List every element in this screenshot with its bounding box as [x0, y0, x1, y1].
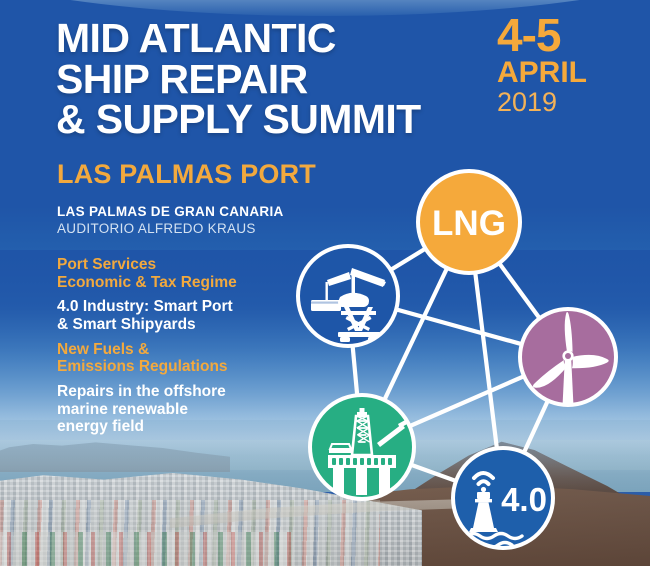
- event-poster: LNG: [0, 0, 650, 566]
- event-date: 4-5 APRIL 2019: [497, 14, 627, 116]
- topic-item: Repairs in the offshoremarine renewablee…: [57, 383, 307, 436]
- headline-line-1: MID ATLANTIC: [56, 18, 476, 59]
- venue-city: LAS PALMAS DE GRAN CANARIA: [57, 203, 284, 220]
- topic-line: Emissions Regulations: [57, 358, 307, 376]
- topic-item: 4.0 Industry: Smart Port& Smart Shipyard…: [57, 298, 307, 333]
- topic-item: Port ServicesEconomic & Tax Regime: [57, 256, 307, 291]
- topic-line: Repairs in the offshore: [57, 383, 307, 401]
- venue-hall: AUDITORIO ALFREDO KRAUS: [57, 220, 284, 237]
- topic-line: energy field: [57, 418, 307, 436]
- venue-block: LAS PALMAS DE GRAN CANARIA AUDITORIO ALF…: [57, 203, 284, 238]
- topic-list: Port ServicesEconomic & Tax Regime4.0 In…: [57, 256, 307, 443]
- topic-line: New Fuels &: [57, 341, 307, 359]
- headline-line-3: & SUPPLY SUMMIT: [56, 99, 476, 140]
- topic-item: New Fuels &Emissions Regulations: [57, 341, 307, 376]
- topic-line: marine renewable: [57, 401, 307, 419]
- topic-line: & Smart Shipyards: [57, 316, 307, 334]
- event-date-year: 2019: [497, 88, 627, 116]
- subtitle-port: LAS PALMAS PORT: [57, 159, 316, 190]
- headline-line-2: SHIP REPAIR: [56, 59, 476, 100]
- poster-copy: MID ATLANTIC SHIP REPAIR & SUPPLY SUMMIT…: [0, 0, 650, 566]
- event-date-month: APRIL: [497, 58, 627, 88]
- topic-line: Port Services: [57, 256, 307, 274]
- event-date-day: 4-5: [497, 14, 627, 58]
- page-title: MID ATLANTIC SHIP REPAIR & SUPPLY SUMMIT: [56, 18, 476, 140]
- topic-line: 4.0 Industry: Smart Port: [57, 298, 307, 316]
- topic-line: Economic & Tax Regime: [57, 274, 307, 292]
